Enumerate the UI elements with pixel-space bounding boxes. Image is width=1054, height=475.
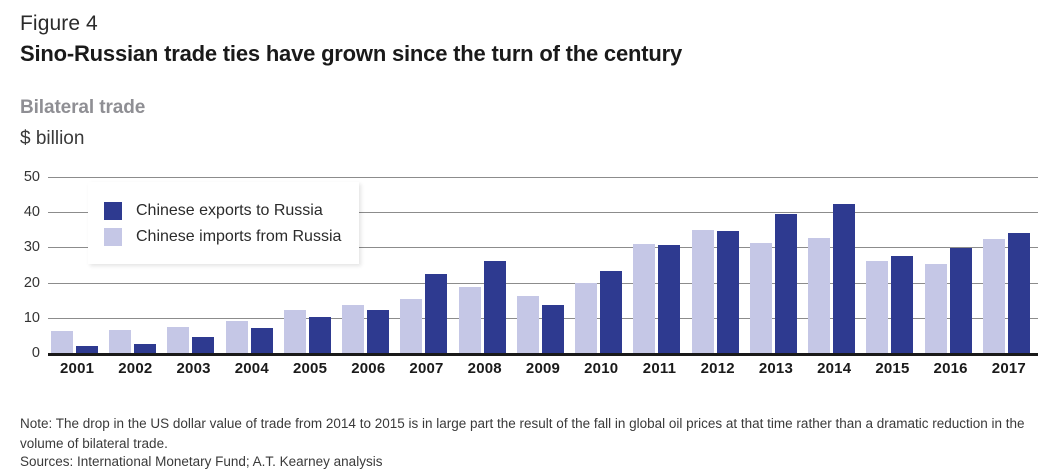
- bar-imports: [517, 296, 539, 353]
- figure-container: Figure 4 Sino-Russian trade ties have gr…: [0, 0, 1054, 475]
- bar-imports: [109, 330, 131, 353]
- x-axis-tick: 2010: [573, 360, 629, 377]
- chart-legend: Chinese exports to Russia Chinese import…: [88, 182, 359, 264]
- legend-item-imports[interactable]: Chinese imports from Russia: [104, 224, 341, 250]
- bar-group: [805, 177, 863, 353]
- bar-imports: [342, 305, 364, 353]
- bar-imports: [808, 238, 830, 353]
- bar-imports: [866, 261, 888, 353]
- x-axis-tick: 2015: [864, 360, 920, 377]
- x-axis-tick: 2016: [923, 360, 979, 377]
- x-axis-tick: 2009: [515, 360, 571, 377]
- bar-exports: [309, 317, 331, 353]
- bar-imports: [167, 327, 189, 353]
- bar-imports: [400, 299, 422, 353]
- x-axis-tick: 2011: [631, 360, 687, 377]
- bar-exports: [484, 261, 506, 353]
- bar-exports: [76, 346, 98, 353]
- figure-title: Sino-Russian trade ties have grown since…: [20, 41, 682, 67]
- legend-label-imports: Chinese imports from Russia: [136, 228, 341, 246]
- x-axis-tick: 2005: [282, 360, 338, 377]
- bar-group: [572, 177, 630, 353]
- x-axis-tick: 2003: [166, 360, 222, 377]
- x-axis-tick: 2001: [49, 360, 105, 377]
- x-axis-tick: 2012: [690, 360, 746, 377]
- bar-exports: [192, 337, 214, 353]
- bar-group: [397, 177, 455, 353]
- x-axis-tick: 2013: [748, 360, 804, 377]
- bar-exports: [251, 328, 273, 353]
- bar-exports: [134, 344, 156, 354]
- bar-exports: [950, 248, 972, 353]
- y-axis-tick: 40: [0, 204, 40, 220]
- x-axis-labels: 2001200220032004200520062007200820092010…: [48, 360, 1038, 382]
- bar-exports: [600, 271, 622, 353]
- y-axis-tick: 20: [0, 275, 40, 291]
- legend-item-exports[interactable]: Chinese exports to Russia: [104, 198, 341, 224]
- y-axis-tick: 10: [0, 310, 40, 326]
- bar-imports: [284, 310, 306, 353]
- bar-group: [922, 177, 980, 353]
- x-axis-tick: 2014: [806, 360, 862, 377]
- bar-exports: [367, 310, 389, 353]
- bar-group: [980, 177, 1038, 353]
- legend-label-exports: Chinese exports to Russia: [136, 202, 323, 220]
- legend-swatch-icon-exports: [104, 202, 122, 220]
- bar-exports: [542, 305, 564, 353]
- bar-imports: [51, 331, 73, 353]
- x-axis-tick: 2008: [457, 360, 513, 377]
- bar-exports: [425, 274, 447, 353]
- bar-imports: [983, 239, 1005, 353]
- x-axis-tick: 2004: [224, 360, 280, 377]
- x-axis-line: [48, 353, 1038, 356]
- bar-exports: [833, 204, 855, 353]
- chart-subtitle: Bilateral trade: [20, 97, 145, 119]
- bar-group: [456, 177, 514, 353]
- bar-exports: [658, 245, 680, 353]
- bar-group: [514, 177, 572, 353]
- bar-imports: [692, 230, 714, 353]
- chart-unit-label: $ billion: [20, 128, 84, 150]
- bar-group: [747, 177, 805, 353]
- chart-sources: Sources: International Monetary Fund; A.…: [20, 454, 382, 469]
- bar-group: [863, 177, 921, 353]
- figure-label: Figure 4: [20, 12, 98, 36]
- x-axis-tick: 2007: [399, 360, 455, 377]
- x-axis-tick: 2017: [981, 360, 1037, 377]
- bar-exports: [775, 214, 797, 353]
- y-axis-tick: 30: [0, 239, 40, 255]
- bar-group: [630, 177, 688, 353]
- bar-imports: [925, 264, 947, 353]
- bar-exports: [717, 231, 739, 353]
- x-axis-tick: 2002: [107, 360, 163, 377]
- y-axis-labels: 01020304050: [0, 177, 40, 353]
- bar-exports: [1008, 233, 1030, 353]
- y-axis-tick: 50: [0, 169, 40, 185]
- legend-swatch-icon-imports: [104, 228, 122, 246]
- bar-exports: [891, 256, 913, 354]
- chart-note: Note: The drop in the US dollar value of…: [20, 414, 1036, 453]
- bar-imports: [750, 243, 772, 353]
- bar-imports: [575, 283, 597, 353]
- y-axis-tick: 0: [0, 345, 40, 361]
- bar-imports: [633, 244, 655, 353]
- bar-imports: [459, 287, 481, 353]
- bar-imports: [226, 321, 248, 353]
- x-axis-tick: 2006: [340, 360, 396, 377]
- bar-group: [689, 177, 747, 353]
